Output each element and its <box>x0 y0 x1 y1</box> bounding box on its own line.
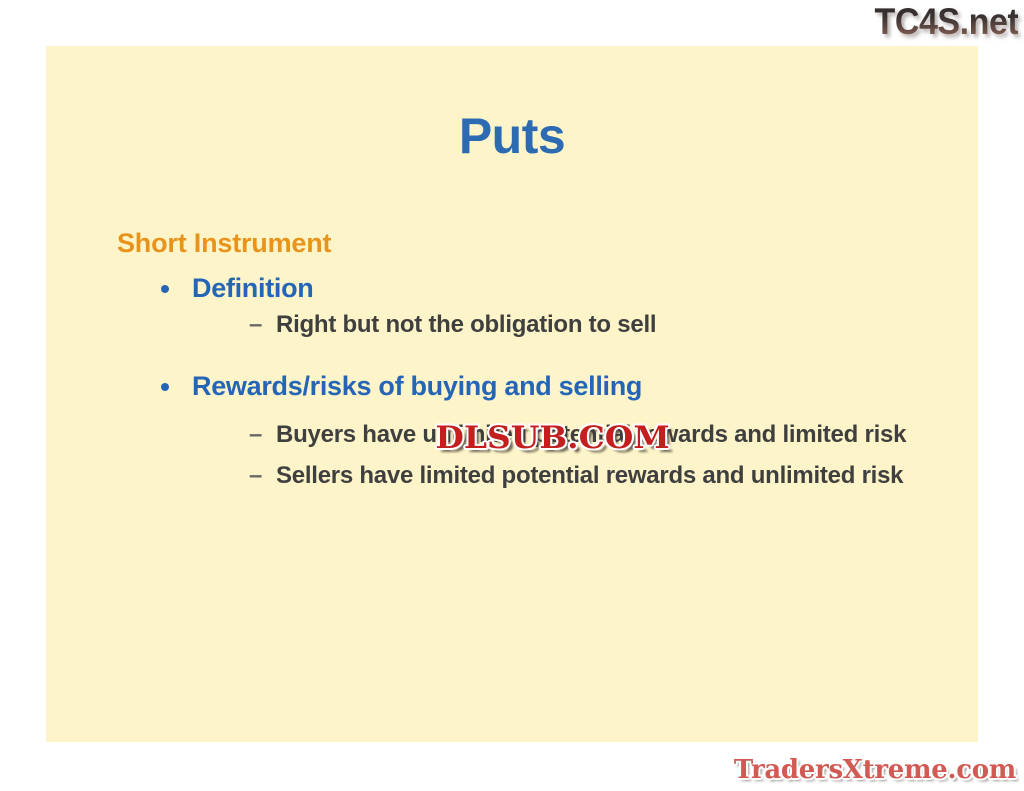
slide-bullet-list: Short Instrument Definition – Right but … <box>106 226 966 500</box>
bullet-level1-short-instrument: Short Instrument <box>106 226 966 260</box>
bullet-level3-sellers: – Sellers have limited potential rewards… <box>106 459 966 493</box>
bullet-level3-label: Right but not the obligation to sell <box>276 311 656 338</box>
bullet-level2-rewards-risks: Rewards/risks of buying and selling <box>106 368 966 404</box>
em-dash-icon: – <box>249 418 262 452</box>
bullet-level2-label: Rewards/risks of buying and selling <box>192 371 642 401</box>
slide-title: Puts <box>46 108 978 164</box>
bullet-dot-icon <box>161 285 169 293</box>
bullet-level3-label: Sellers have limited potential rewards a… <box>276 462 903 489</box>
bullet-level3-buyers: – Buyers have unlimited potential reward… <box>106 418 966 452</box>
bullet-dot-icon <box>161 383 169 391</box>
em-dash-icon: – <box>249 308 262 342</box>
bullet-level2-label: Definition <box>192 273 313 303</box>
em-dash-icon: – <box>249 459 262 493</box>
bullet-level2-definition: Definition <box>106 270 966 306</box>
site-brand-logo: TC4S.net <box>874 2 1018 42</box>
slide-canvas: Puts Short Instrument Definition – Right… <box>46 46 978 742</box>
bullet-level3-right-to-sell: – Right but not the obligation to sell <box>106 308 966 342</box>
bullet-level3-label: Buyers have unlimited potential rewards … <box>276 421 906 448</box>
footer-brand-logo: TradersXtreme.com <box>734 755 1016 785</box>
